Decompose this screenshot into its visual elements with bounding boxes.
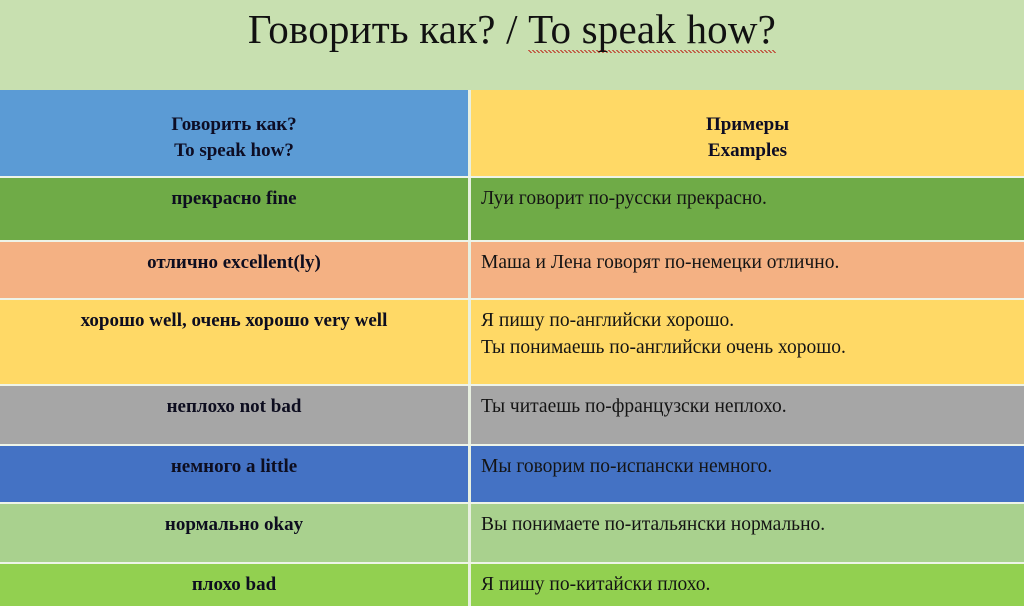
table-cell-example: Луи говорит по-русски прекрасно. <box>471 178 1024 240</box>
table-header-label-example: Примеры Examples <box>706 112 789 163</box>
table-row: немного a littleМы говорим по-испански н… <box>0 444 1024 502</box>
table-row: плохо badЯ пишу по-китайски плохо. <box>0 562 1024 606</box>
page-title: Говорить как? / To speak how? <box>248 4 776 55</box>
term-label: хорошо well, очень хорошо very well <box>81 308 388 334</box>
page-title-separator: / <box>496 6 529 52</box>
table-row: прекрасно fineЛуи говорит по-русски прек… <box>0 176 1024 240</box>
term-label: неплохо not bad <box>167 394 302 420</box>
example-sentence: Я пишу по-английски хорошо. <box>481 308 734 335</box>
table-cell-example: Вы понимаете по-итальянски нормально. <box>471 504 1024 562</box>
table-cell-term: немного a little <box>0 446 471 502</box>
table-cell-example: Мы говорим по-испански немного. <box>471 446 1024 502</box>
table-cell-term: отлично excellent(ly) <box>0 242 471 298</box>
slide-canvas: Говорить как? / To speak how? Говорить к… <box>0 0 1024 586</box>
table-cell-term: прекрасно fine <box>0 178 471 240</box>
table-header-row: Говорить как? To speak how?Примеры Examp… <box>0 90 1024 176</box>
example-sentence: Мы говорим по-испански немного. <box>481 454 772 481</box>
table-cell-example: Я пишу по-китайски плохо. <box>471 564 1024 606</box>
page-title-ru: Говорить как? <box>248 6 496 52</box>
table-row: отлично excellent(ly)Маша и Лена говорят… <box>0 240 1024 298</box>
table-header-cell-example: Примеры Examples <box>471 90 1024 176</box>
table-cell-term: плохо bad <box>0 564 471 606</box>
table-row: нормально okayВы понимаете по-итальянски… <box>0 502 1024 562</box>
table-header-cell-term: Говорить как? To speak how? <box>0 90 471 176</box>
table-cell-example: Я пишу по-английски хорошо.Ты понимаешь … <box>471 300 1024 384</box>
example-sentence: Маша и Лена говорят по-немецки отлично. <box>481 250 839 277</box>
term-label: прекрасно fine <box>171 186 296 212</box>
example-sentence: Луи говорит по-русски прекрасно. <box>481 186 767 213</box>
table-row: неплохо not badТы читаешь по-французски … <box>0 384 1024 444</box>
term-label: немного a little <box>171 454 297 480</box>
term-label: плохо bad <box>192 572 276 598</box>
page-title-en: To speak how? <box>528 6 776 54</box>
example-sentence: Я пишу по-китайски плохо. <box>481 572 710 599</box>
table-cell-example: Ты читаешь по-французски неплохо. <box>471 386 1024 444</box>
example-sentence: Вы понимаете по-итальянски нормально. <box>481 512 825 539</box>
table-header-label-term: Говорить как? To speak how? <box>171 112 296 163</box>
table-cell-term: неплохо not bad <box>0 386 471 444</box>
comparison-table: Говорить как? To speak how?Примеры Examp… <box>0 90 1024 606</box>
example-sentence: Ты читаешь по-французски неплохо. <box>481 394 787 421</box>
example-sentence: Ты понимаешь по-английски очень хорошо. <box>481 335 846 362</box>
table-cell-term: хорошо well, очень хорошо very well <box>0 300 471 384</box>
title-band: Говорить как? / To speak how? <box>0 0 1024 90</box>
table-cell-term: нормально okay <box>0 504 471 562</box>
term-label: отлично excellent(ly) <box>147 250 321 276</box>
table-row: хорошо well, очень хорошо very wellЯ пиш… <box>0 298 1024 384</box>
term-label: нормально okay <box>165 512 303 538</box>
table-cell-example: Маша и Лена говорят по-немецки отлично. <box>471 242 1024 298</box>
